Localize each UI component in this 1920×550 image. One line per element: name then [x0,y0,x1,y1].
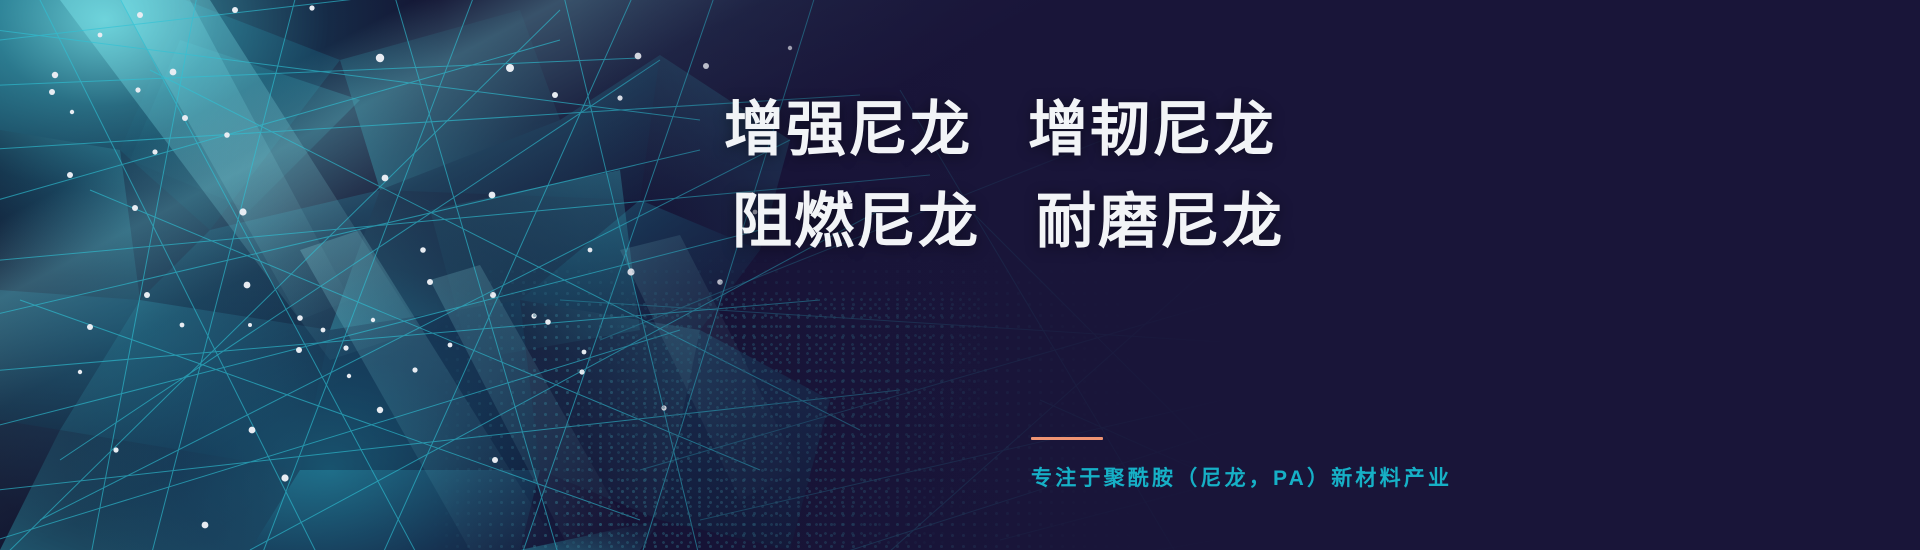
banner-subtitle: 专注于聚酰胺（尼龙，PA）新材料产业 [1031,462,1452,492]
accent-divider [1031,437,1103,440]
hero-banner: 增强尼龙 增韧尼龙 阻燃尼龙 耐磨尼龙 专注于聚酰胺（尼龙，PA）新材料产业 [0,0,1920,550]
network-lines [0,0,1920,550]
headline-block: 增强尼龙 增韧尼龙 阻燃尼龙 耐磨尼龙 [724,84,1484,268]
headline-line-1: 增强尼龙 增韧尼龙 [724,84,1484,176]
headline-line-2: 阻燃尼龙 耐磨尼龙 [724,176,1484,268]
